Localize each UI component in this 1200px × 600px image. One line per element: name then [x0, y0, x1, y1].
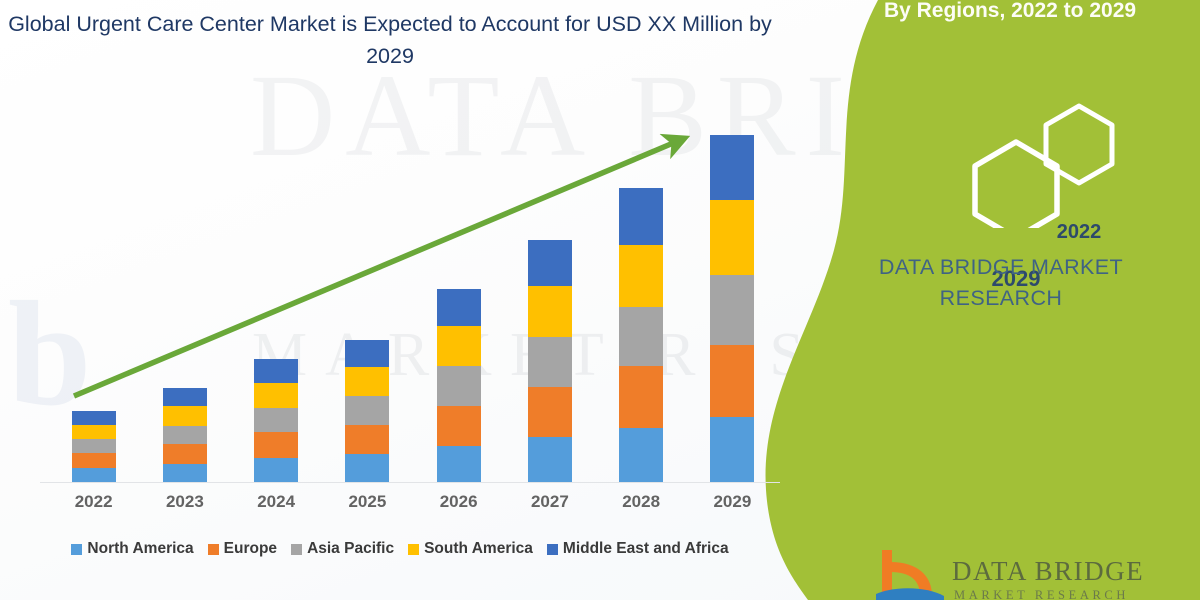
bar-segment: [345, 454, 389, 482]
bar-segment: [72, 439, 116, 453]
bar-segment: [72, 425, 116, 440]
legend-item[interactable]: Europe: [208, 540, 277, 558]
bar-column: [49, 120, 139, 482]
bar-segment: [619, 366, 663, 427]
bar-stack: [437, 289, 481, 482]
bar-segment: [163, 388, 207, 406]
bar-segment: [254, 359, 298, 383]
x-axis-tick: 2025: [322, 492, 412, 512]
bar-column: [596, 120, 686, 482]
bar-segment: [437, 406, 481, 446]
bar-segment: [710, 417, 754, 482]
bar-segment: [710, 135, 754, 200]
bar-segment: [72, 411, 116, 425]
bar-segment: [528, 240, 572, 287]
legend-label: Europe: [224, 540, 277, 558]
hexagon-badge-2022: 2022: [1044, 221, 1114, 244]
x-axis-tick: 2022: [49, 492, 139, 512]
legend-item[interactable]: Asia Pacific: [291, 540, 394, 558]
bar-segment: [345, 396, 389, 425]
chart-plot-area: 20222023202420252026202720282029: [0, 0, 880, 600]
bar-segment: [619, 428, 663, 483]
bar-column: [322, 120, 412, 482]
legend-swatch-icon: [71, 544, 82, 555]
bar-segment: [437, 289, 481, 326]
bar-stack: [163, 388, 207, 482]
bar-segment: [528, 337, 572, 386]
legend-label: Middle East and Africa: [563, 540, 729, 558]
x-axis-tick: 2026: [414, 492, 504, 512]
bar-segment: [528, 387, 572, 437]
bar-column: [414, 120, 504, 482]
x-axis-tick: 2023: [140, 492, 230, 512]
bar-segment: [163, 406, 207, 425]
data-bridge-logo-icon: [874, 548, 948, 600]
stacked-bars: [48, 120, 778, 482]
chart-legend: North AmericaEuropeAsia PacificSouth Ame…: [0, 540, 800, 558]
bar-column: [687, 120, 777, 482]
bar-stack: [72, 411, 116, 482]
bar-segment: [163, 444, 207, 463]
bar-segment: [72, 468, 116, 482]
bar-segment: [710, 345, 754, 417]
legend-swatch-icon: [291, 544, 302, 555]
legend-label: North America: [87, 540, 193, 558]
bar-segment: [345, 367, 389, 397]
x-axis-tick: 2027: [505, 492, 595, 512]
logo-subtitle: MARKET RESEARCH: [954, 588, 1129, 600]
legend-label: Asia Pacific: [307, 540, 394, 558]
bar-segment: [345, 340, 389, 367]
x-axis-labels: 20222023202420252026202720282029: [48, 492, 778, 512]
bar-segment: [345, 425, 389, 454]
legend-label: South America: [424, 540, 533, 558]
bar-segment: [528, 437, 572, 482]
bar-segment: [710, 200, 754, 275]
bar-segment: [254, 383, 298, 408]
legend-item[interactable]: Middle East and Africa: [547, 540, 729, 558]
bar-segment: [163, 464, 207, 483]
logo-name: DATA BRIDGE: [952, 556, 1144, 587]
bar-stack: [345, 340, 389, 482]
bar-segment: [72, 453, 116, 467]
bar-segment: [437, 446, 481, 482]
legend-swatch-icon: [408, 544, 419, 555]
bar-column: [505, 120, 595, 482]
bar-segment: [254, 408, 298, 433]
infographic-root: b DATA BRIDGE MARKET RESEARCH Global Urg…: [0, 0, 1200, 600]
bar-segment: [163, 426, 207, 445]
bar-segment: [437, 366, 481, 405]
bar-stack: [710, 135, 754, 482]
bar-segment: [254, 458, 298, 482]
bar-segment: [437, 326, 481, 367]
legend-swatch-icon: [547, 544, 558, 555]
bar-segment: [619, 188, 663, 245]
bar-stack: [528, 240, 572, 482]
bar-column: [231, 120, 321, 482]
x-axis-tick: 2028: [596, 492, 686, 512]
chart-headline: Global Urgent Care Center Market is Expe…: [0, 8, 780, 72]
bar-segment: [710, 275, 754, 345]
bar-stack: [619, 188, 663, 482]
bar-segment: [528, 286, 572, 337]
bar-column: [140, 120, 230, 482]
bar-stack: [254, 359, 298, 482]
bar-segment: [254, 432, 298, 457]
x-axis-tick: 2024: [231, 492, 321, 512]
bar-segment: [619, 307, 663, 367]
legend-swatch-icon: [208, 544, 219, 555]
legend-item[interactable]: North America: [71, 540, 193, 558]
bar-segment: [619, 245, 663, 307]
chart-panel: b DATA BRIDGE MARKET RESEARCH Global Urg…: [0, 0, 880, 600]
company-logo: DATA BRIDGE MARKET RESEARCH: [874, 548, 1200, 600]
legend-item[interactable]: South America: [408, 540, 533, 558]
x-axis-tick: 2029: [687, 492, 777, 512]
chart-baseline: [40, 482, 780, 483]
